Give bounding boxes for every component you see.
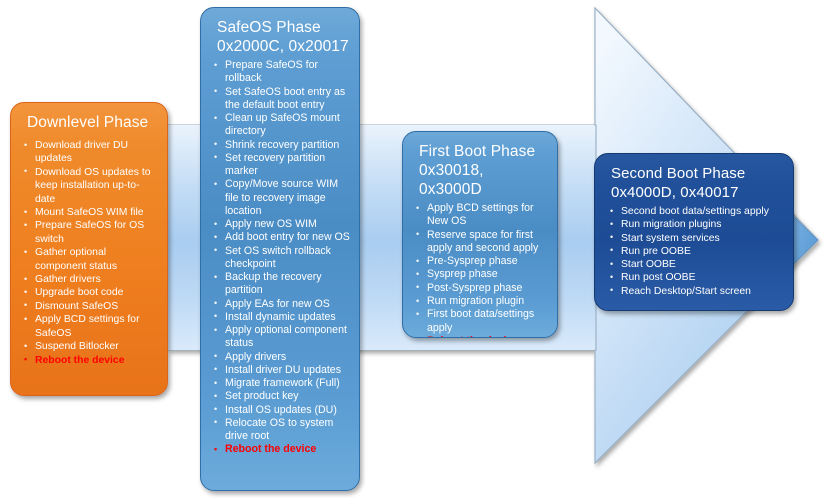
list-item: Set SafeOS boot entry as the default boo… <box>211 86 351 113</box>
list-item: Reserve space for first apply and second… <box>413 229 549 256</box>
phase-card-safeos[interactable]: SafeOS Phase 0x2000C, 0x20017 Prepare Sa… <box>200 7 360 491</box>
list-item: Pre-Sysprep phase <box>413 255 549 268</box>
phase-item-list-secondboot: Second boot data/settings apply Run migr… <box>605 205 785 298</box>
list-item: Suspend Bitlocker <box>21 340 159 353</box>
list-item: Install OS updates (DU) <box>211 404 351 417</box>
phase-card-downlevel[interactable]: Downlevel Phase Download driver DU updat… <box>10 102 168 396</box>
phase-item-list-downlevel: Download driver DU updates Download OS u… <box>21 139 159 367</box>
list-item: Run migration plugin <box>413 295 549 308</box>
list-item: Gather optional component status <box>21 246 159 273</box>
list-item: Reach Desktop/Start screen <box>605 285 785 298</box>
phase-item-list-firstboot: Apply BCD settings for New OS Reserve sp… <box>413 202 549 338</box>
list-item: Start OOBE <box>605 258 785 271</box>
phase-title-secondboot: Second Boot Phase 0x4000D, 0x40017 <box>611 164 785 202</box>
list-item: Apply drivers <box>211 351 351 364</box>
list-item: Post-Sysprep phase <box>413 282 549 295</box>
list-item: Run migration plugins <box>605 218 785 231</box>
list-item: Second boot data/settings apply <box>605 205 785 218</box>
list-item: Set recovery partition marker <box>211 152 351 179</box>
list-item: Run pre OOBE <box>605 245 785 258</box>
phase-title-firstboot: First Boot Phase 0x30018, 0x3000D <box>419 142 549 199</box>
list-item: Apply optional component status <box>211 324 351 351</box>
list-item: Apply BCD settings for SafeOS <box>21 313 159 340</box>
list-item: Prepare SafeOS for OS switch <box>21 219 159 246</box>
list-item: Gather drivers <box>21 273 159 286</box>
list-item: Relocate OS to system drive root <box>211 417 351 444</box>
list-item: Apply BCD settings for New OS <box>413 202 549 229</box>
list-item: Migrate framework (Full) <box>211 377 351 390</box>
list-item: Set OS switch rollback checkpoint <box>211 245 351 272</box>
list-item: First boot data/settings apply <box>413 308 549 335</box>
list-item: Prepare SafeOS for rollback <box>211 59 351 86</box>
diagram-canvas: Downlevel Phase Download driver DU updat… <box>0 0 825 501</box>
list-item: Backup the recovery partition <box>211 271 351 298</box>
phase-title-downlevel: Downlevel Phase <box>27 113 159 132</box>
list-item: Copy/Move source WIM file to recovery im… <box>211 178 351 218</box>
list-item: Download driver DU updates <box>21 139 159 166</box>
list-item: Apply EAs for new OS <box>211 298 351 311</box>
phase-card-firstboot[interactable]: First Boot Phase 0x30018, 0x3000D Apply … <box>402 131 558 338</box>
list-item-reboot: Reboot the device <box>21 354 159 367</box>
list-item: Install driver DU updates <box>211 364 351 377</box>
list-item: Shrink recovery partition <box>211 139 351 152</box>
list-item: Dismount SafeOS <box>21 300 159 313</box>
list-item-reboot: Reboot the device <box>413 335 549 338</box>
list-item: Start system services <box>605 232 785 245</box>
list-item: Download OS updates to keep installation… <box>21 166 159 206</box>
phase-title-safeos: SafeOS Phase 0x2000C, 0x20017 <box>217 18 351 56</box>
phase-card-secondboot[interactable]: Second Boot Phase 0x4000D, 0x40017 Secon… <box>594 153 794 311</box>
phase-item-list-safeos: Prepare SafeOS for rollback Set SafeOS b… <box>211 59 351 457</box>
list-item: Clean up SafeOS mount directory <box>211 112 351 139</box>
list-item: Set product key <box>211 390 351 403</box>
list-item: Upgrade boot code <box>21 286 159 299</box>
list-item: Add boot entry for new OS <box>211 231 351 244</box>
list-item: Apply new OS WIM <box>211 218 351 231</box>
list-item: Sysprep phase <box>413 268 549 281</box>
list-item: Mount SafeOS WIM file <box>21 206 159 219</box>
list-item-reboot: Reboot the device <box>211 443 351 456</box>
list-item: Run post OOBE <box>605 271 785 284</box>
list-item: Install dynamic updates <box>211 311 351 324</box>
